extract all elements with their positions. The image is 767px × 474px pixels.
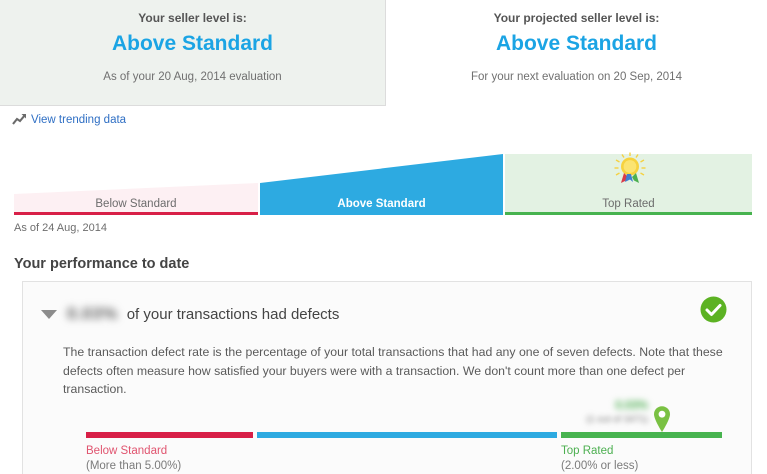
defect-rate-header[interactable]: 0.03% of your transactions had defects — [23, 282, 751, 324]
current-level-caption: Your seller level is: — [0, 11, 385, 25]
defect-rate-scale: 0.03% (1 out of 3471) Below Standard (Mo… — [86, 432, 722, 438]
projected-level-value: Above Standard — [386, 32, 767, 56]
page-section-title: Your performance to date — [14, 256, 189, 272]
ramp-label-above-standard: Above Standard — [258, 198, 505, 210]
ramp-label-below-standard: Below Standard — [14, 198, 258, 210]
current-level-asof: As of your 20 Aug, 2014 evaluation — [0, 71, 385, 83]
scale-caption-below-label: Below Standard — [86, 444, 181, 459]
defect-rate-headline: of your transactions had defects — [127, 306, 340, 323]
scale-caption-below-range: (More than 5.00%) — [86, 459, 181, 474]
scale-caption-top-label: Top Rated — [561, 444, 638, 459]
defect-rate-bar: 0.03% (1 out of 3471) — [86, 432, 722, 438]
current-level-card: Your seller level is: Above Standard As … — [0, 0, 386, 106]
scale-caption-top-range: (2.00% or less) — [561, 459, 638, 474]
projected-level-asof: For your next evaluation on 20 Sep, 2014 — [386, 71, 767, 83]
seller-level-summary: Your seller level is: Above Standard As … — [0, 0, 767, 106]
seller-level-ramp-chart: Below Standard Above Standard Top Rated — [14, 148, 752, 216]
check-circle-icon — [700, 296, 727, 323]
defect-rate-value: 0.03% — [67, 304, 118, 324]
trend-up-icon — [12, 113, 27, 126]
scale-caption-top-rated: Top Rated (2.00% or less) — [561, 444, 638, 474]
scale-caption-below-standard: Below Standard (More than 5.00%) — [86, 444, 181, 474]
top-rated-award-icon — [612, 152, 648, 185]
scale-marker-sublabel: (1 out of 3471) — [556, 414, 648, 425]
ramp-asof-date: As of 24 Aug, 2014 — [14, 222, 107, 234]
projected-level-card: Your projected seller level is: Above St… — [386, 0, 767, 106]
defect-rate-description: The transaction defect rate is the perce… — [63, 343, 729, 399]
map-pin-marker-icon — [652, 405, 672, 433]
scale-segment-above-standard — [257, 432, 557, 438]
scale-segment-top-rated — [561, 432, 722, 438]
scale-marker-value: 0.03% — [586, 400, 648, 412]
caret-down-icon[interactable] — [41, 310, 57, 319]
view-trending-data[interactable]: View trending data — [12, 113, 126, 126]
scale-segment-below-standard — [86, 432, 253, 438]
view-trending-data-link[interactable]: View trending data — [31, 114, 126, 126]
projected-level-caption: Your projected seller level is: — [386, 11, 767, 25]
defect-rate-card: 0.03% of your transactions had defects T… — [22, 281, 752, 474]
ramp-label-top-rated: Top Rated — [505, 198, 752, 210]
seller-level-dashboard: Your seller level is: Above Standard As … — [0, 0, 767, 474]
current-level-value: Above Standard — [0, 32, 385, 56]
